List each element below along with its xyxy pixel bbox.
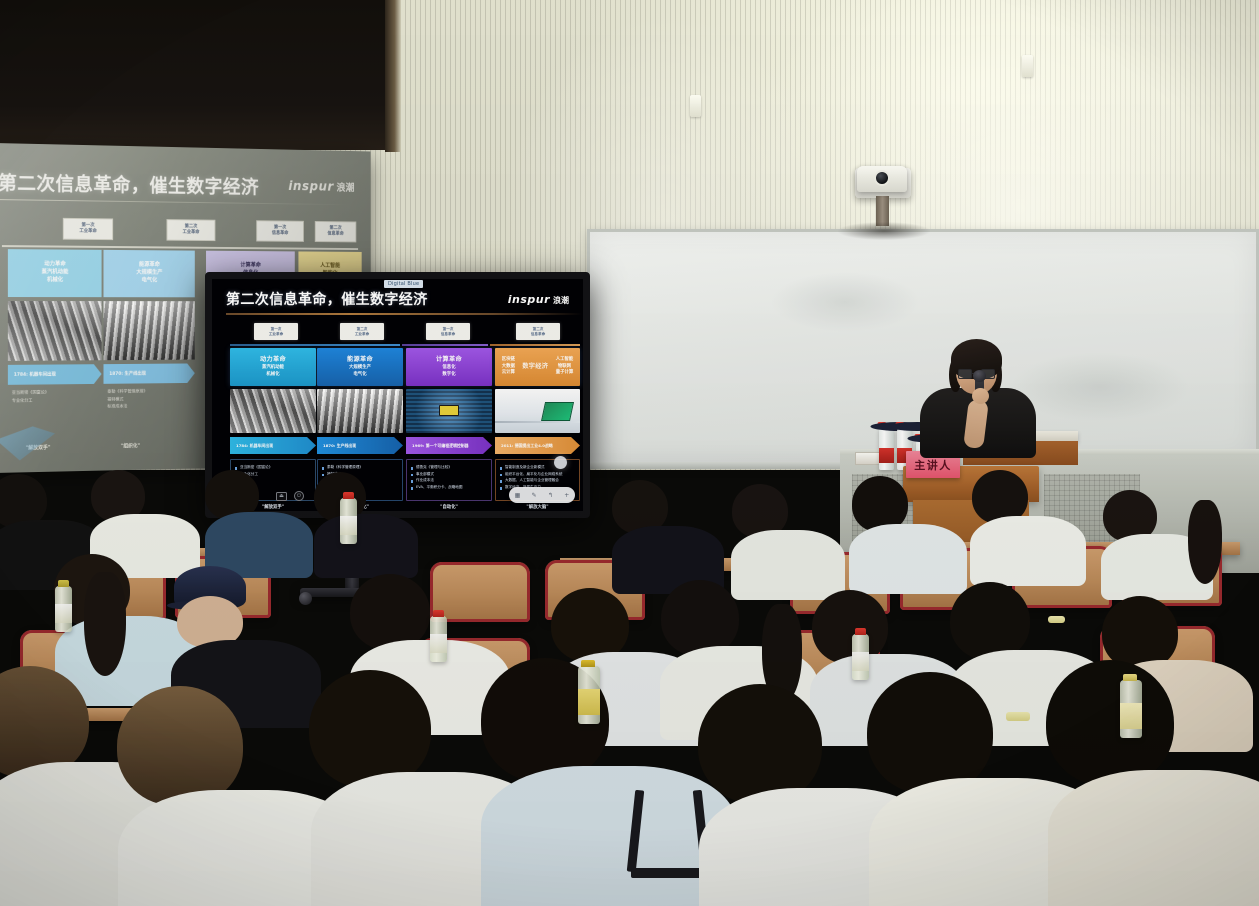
projected-era-tag-4: 第二次 信息革命 (315, 221, 357, 242)
cursor-dot-indicator (554, 456, 567, 469)
bottle-label (879, 448, 894, 463)
column-title: 能源革命 (347, 355, 373, 364)
person-head (1046, 660, 1174, 786)
person-head (812, 590, 888, 664)
projected-column-2: 能源革命 大规模生产 电气化 (104, 250, 195, 297)
projected-brand-name-cn: 浪潮 (337, 183, 355, 194)
era-tag-line2: 工业革命 (355, 332, 369, 337)
bottle-label (430, 634, 447, 653)
person-head (117, 686, 243, 806)
chip-core-icon (439, 405, 460, 416)
era-tag-line2: 信息革命 (272, 231, 288, 237)
person-head (350, 574, 430, 650)
audience-bottle (55, 586, 72, 632)
column-title: 计算革命 (240, 263, 260, 271)
projected-slide-title: 第二次信息革命，催生数字经济 (0, 168, 259, 199)
person-head (1102, 596, 1178, 670)
projected-brand-logo: inspur浪潮 (288, 178, 354, 194)
year-banner-1: 1784: 机器车间出现 (230, 437, 316, 454)
orange-sub: 人工智能 (556, 357, 574, 364)
ceiling-dark-soffit (0, 0, 399, 150)
person-body (849, 524, 967, 594)
bottle-label (852, 652, 869, 671)
year-banner-2: 1870: 生产线出现 (317, 437, 403, 454)
bottle-cap (896, 422, 905, 429)
era-tag-3: 第一次 信息革命 (426, 323, 470, 340)
hair-clip (1006, 712, 1030, 721)
whiteboard-smudge (770, 272, 920, 332)
column-sub1: 信息化 (442, 365, 455, 372)
backpack-strap-cross (631, 868, 707, 878)
year-banner-3: 1969: 第一个可编程逻辑控制器 (406, 437, 492, 454)
audience-bottle (852, 634, 869, 680)
projected-era-tag-3: 第一次 信息革命 (256, 220, 304, 242)
column-photo-3 (406, 389, 492, 433)
column-sub2: 电气化 (353, 372, 366, 379)
column-title: 能源革命 (139, 262, 160, 270)
column-head-3: 计算革命 信息化 数字化 (406, 348, 492, 386)
bottle-cap (433, 610, 444, 617)
projected-year-banner-2: 1870: 生产线出现 (104, 363, 195, 383)
brand-logo: inspur浪潮 (508, 293, 569, 306)
person-ponytail (1188, 500, 1222, 584)
projected-quote-2: "组织化" (121, 442, 140, 449)
person-body (1048, 770, 1259, 906)
era-tag-2: 第二次 工业革命 (340, 323, 384, 340)
bottle-label (1120, 703, 1142, 729)
column-photo-1 (230, 389, 316, 433)
audience-bottle (340, 498, 357, 544)
title-underline (226, 313, 582, 315)
orange-sub: 云计算 (502, 370, 515, 377)
column-photo-2 (317, 389, 403, 433)
column-sub1: 蒸汽机动能 (262, 365, 284, 372)
column-title: 计算革命 (436, 355, 462, 364)
column-title: 动力革命 (44, 261, 65, 269)
person-head (551, 588, 629, 662)
lecture-hall-scene: 第二次信息革命，催生数字经济 inspur浪潮 第一次 工业革命 第二次 工业革… (0, 0, 1259, 906)
bottle-cap (343, 492, 354, 499)
projected-era-tag-2: 第二次 工业革命 (167, 219, 216, 241)
bottle-label (55, 604, 72, 623)
bottle-cap (1123, 674, 1137, 681)
column-sub2: 数字化 (442, 372, 455, 379)
wall-fixture-right (1022, 55, 1033, 77)
slide-title: 第二次信息革命，催生数字经济 (226, 289, 428, 309)
person-head (661, 580, 739, 656)
era-tag-line2: 信息革命 (531, 332, 545, 337)
bullet: 标准成本法 (107, 401, 194, 410)
water-bottle-1 (879, 428, 894, 470)
brand-name-cn: 浪潮 (553, 296, 569, 305)
ptz-camera (857, 166, 907, 192)
projected-column-1: 动力革命 蒸汽机动能 机械化 (8, 249, 102, 297)
audience-area (0, 470, 1259, 906)
audience-bottle (578, 666, 600, 724)
column-title: 动力革命 (260, 355, 286, 364)
era-tag-1: 第一次 工业革命 (254, 323, 298, 340)
laptop-icon (541, 402, 574, 421)
bottle-cap (878, 422, 887, 429)
column-title: 人工智能 (320, 263, 340, 271)
audience-bottle (1120, 680, 1142, 738)
seat[interactable] (430, 562, 530, 622)
camera-lens-icon (874, 170, 890, 186)
whiteboard-smudge (1010, 352, 1190, 422)
person-head (698, 684, 822, 804)
projected-photo-2 (104, 301, 195, 360)
slide-badge: Digital Blue (384, 280, 423, 288)
soffit-edge (385, 0, 401, 152)
person-body (731, 530, 845, 600)
projector-shadow (838, 222, 930, 240)
era-tag-line2: 工业革命 (183, 230, 200, 236)
timeline-rule (230, 344, 580, 346)
orange-sub: 量子计算 (556, 370, 574, 377)
projected-photo-1 (8, 301, 102, 361)
audience-bottle (430, 616, 447, 662)
projected-title-rule (0, 199, 349, 205)
person-ponytail (84, 572, 126, 676)
column-head-4: 区块链 大数据 云计算 数字经济 人工智能 物联网 量子计算 (495, 348, 580, 386)
wall-fixture-left (690, 95, 701, 117)
column-sub2: 机械化 (266, 372, 279, 379)
column-photo-4 (495, 389, 580, 433)
person-body (314, 514, 418, 578)
bottle-cap (58, 580, 69, 587)
era-tag-line2: 工业革命 (269, 332, 283, 337)
brand-name: inspur (508, 293, 550, 306)
person-body (970, 516, 1086, 586)
column-sub1: 大规模生产 (136, 270, 162, 278)
column-sub1: 蒸汽机动能 (42, 269, 69, 277)
projected-year-banner-1: 1784: 机器车间出现 (8, 364, 102, 385)
bottle-cap (581, 660, 595, 667)
speaker-hand (972, 388, 989, 404)
person-head (309, 670, 431, 788)
era-tag-line2: 信息革命 (441, 332, 455, 337)
column-head-1: 动力革命 蒸汽机动能 机械化 (230, 348, 316, 386)
projected-era-tag-1: 第一次 工业革命 (63, 218, 113, 240)
bottle-label (340, 516, 357, 535)
hair-clip (1048, 616, 1065, 623)
glasses-lens-left (958, 369, 972, 379)
column-head-2: 能源革命 大规模生产 电气化 (317, 348, 403, 386)
era-tag-4: 第二次 信息革命 (516, 323, 560, 340)
year-banner-4: 2011: 德国提出工业4.0战略 (495, 437, 580, 454)
column-sub1: 大规模生产 (349, 365, 371, 372)
bullet: 专业化分工 (12, 395, 102, 404)
orange-sub: 区块链 (502, 357, 515, 364)
projected-bullets-2: 泰勒《科学管理原理》 福特模式 标准成本法 (107, 387, 194, 410)
bottle-label (578, 689, 600, 715)
column-sub2: 电气化 (142, 278, 158, 286)
era-tag-line2: 信息革命 (327, 232, 343, 238)
projected-brand-name: inspur (288, 179, 333, 194)
column-sub2: 机械化 (47, 277, 63, 285)
projected-bullets-1: 亚当斯密《国富论》 专业化分工 (12, 388, 102, 404)
person-head (867, 672, 993, 794)
orange-sub-highlight: 数字经济 (522, 362, 548, 371)
era-tag-line2: 工业革命 (79, 229, 96, 235)
person-head (950, 582, 1030, 660)
bottle-cap (855, 628, 866, 635)
